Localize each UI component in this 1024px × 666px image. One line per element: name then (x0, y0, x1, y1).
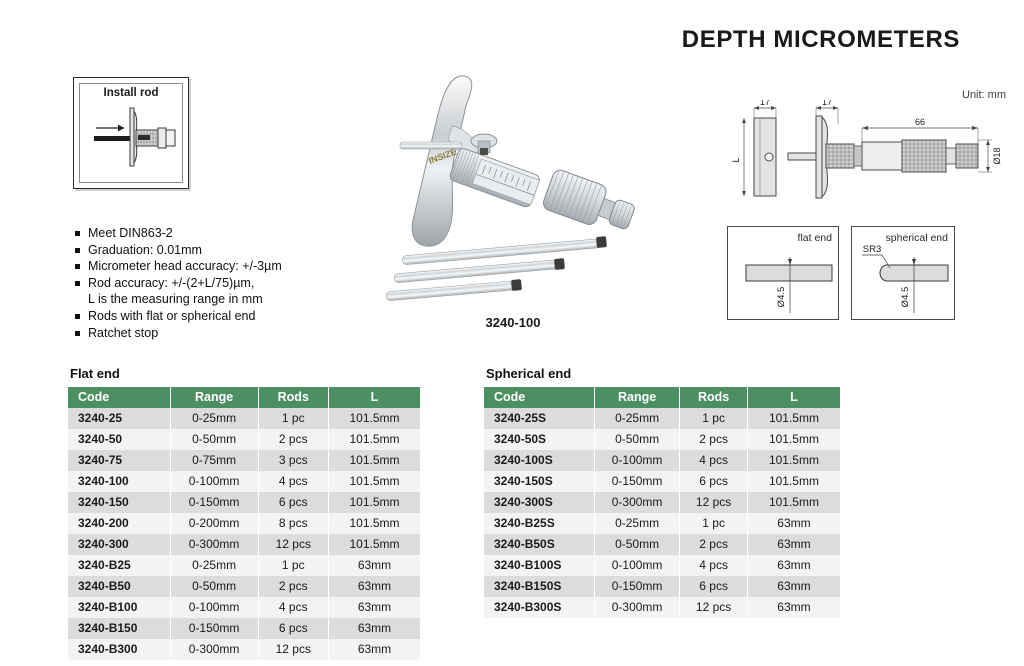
bullet-icon (75, 231, 80, 236)
specifications-list: Meet DIN863-2 Graduation: 0.01mm Microme… (75, 225, 375, 341)
spec-text: Ratchet stop (88, 325, 158, 342)
table-row: 3240-B300S 0-300mm 12 pcs 63mm (484, 597, 840, 618)
table-row: 3240-B150 0-150mm 6 pcs 63mm (68, 618, 420, 639)
cell-code: 3240-50S (484, 429, 594, 450)
table-row: 3240-B25S 0-25mm 1 pc 63mm (484, 513, 840, 534)
cell-l: 63mm (328, 639, 420, 660)
table-row: 3240-B50 0-50mm 2 pcs 63mm (68, 576, 420, 597)
column-header-code: Code (68, 387, 170, 408)
cell-code: 3240-75 (68, 450, 170, 471)
column-header-rods: Rods (258, 387, 328, 408)
column-header-l: L (328, 387, 420, 408)
cell-l: 63mm (747, 576, 840, 597)
dimension-drawing: 17 L 17 (726, 100, 1018, 212)
table-row: 3240-25 0-25mm 1 pc 101.5mm (68, 408, 420, 429)
spec-item: Graduation: 0.01mm (75, 242, 375, 259)
flat-end-table: Code Range Rods L 3240-25 0-25mm 1 pc 10… (68, 387, 420, 660)
bullet-icon (75, 314, 80, 319)
page-title: DEPTH MICROMETERS (682, 26, 960, 54)
spherical-end-table-section: Spherical end Code Range Rods L 3240-25S… (484, 366, 840, 618)
cell-l: 101.5mm (747, 408, 840, 429)
spec-text: Rods with flat or spherical end (88, 308, 255, 325)
cell-range: 0-200mm (170, 513, 258, 534)
cell-rods: 2 pcs (680, 429, 748, 450)
cell-range: 0-25mm (594, 408, 679, 429)
cell-code: 3240-300S (484, 492, 594, 513)
spherical-end-detail-box: spherical end SR3 Ø4.5 (851, 226, 955, 320)
cell-l: 101.5mm (328, 471, 420, 492)
cell-range: 0-25mm (170, 408, 258, 429)
spec-text: L is the measuring range in mm (88, 291, 263, 308)
cell-rods: 2 pcs (258, 429, 328, 450)
svg-text:Ø4.5: Ø4.5 (900, 287, 911, 308)
cell-l: 101.5mm (747, 471, 840, 492)
cell-code: 3240-B300S (484, 597, 594, 618)
table-row: 3240-25S 0-25mm 1 pc 101.5mm (484, 408, 840, 429)
column-header-rods: Rods (680, 387, 748, 408)
table-row: 3240-75 0-75mm 3 pcs 101.5mm (68, 450, 420, 471)
table-row: 3240-B100S 0-100mm 4 pcs 63mm (484, 555, 840, 576)
spec-text: Meet DIN863-2 (88, 225, 173, 242)
dim-thimble-dia: Ø18 (992, 147, 1002, 164)
cell-rods: 6 pcs (258, 492, 328, 513)
flat-end-table-body: 3240-25 0-25mm 1 pc 101.5mm 3240-50 0-50… (68, 408, 420, 660)
cell-range: 0-100mm (594, 450, 679, 471)
cell-code: 3240-300 (68, 534, 170, 555)
cell-range: 0-150mm (170, 618, 258, 639)
cell-code: 3240-25 (68, 408, 170, 429)
cell-range: 0-300mm (170, 639, 258, 660)
cell-rods: 4 pcs (680, 555, 748, 576)
spec-item: Meet DIN863-2 (75, 225, 375, 242)
cell-code: 3240-B300 (68, 639, 170, 660)
cell-l: 101.5mm (747, 492, 840, 513)
table-header-row: Code Range Rods L (484, 387, 840, 408)
cell-l: 63mm (328, 597, 420, 618)
bullet-spacer-icon (75, 297, 80, 302)
bullet-icon (75, 264, 80, 269)
bullet-icon (75, 281, 80, 286)
cell-rods: 2 pcs (258, 576, 328, 597)
table-row: 3240-100 0-100mm 4 pcs 101.5mm (68, 471, 420, 492)
cell-rods: 1 pc (258, 408, 328, 429)
dim-frame-width: 17 (822, 100, 832, 107)
spec-item: Micrometer head accuracy: +/-3µm (75, 258, 375, 275)
table-row: 3240-150S 0-150mm 6 pcs 101.5mm (484, 471, 840, 492)
cell-code: 3240-25S (484, 408, 594, 429)
cell-rods: 12 pcs (258, 534, 328, 555)
cell-l: 101.5mm (328, 513, 420, 534)
spherical-radius-label: SR3 (863, 244, 881, 255)
cell-range: 0-300mm (170, 534, 258, 555)
spec-item: Rods with flat or spherical end (75, 308, 375, 325)
cell-rods: 1 pc (680, 513, 748, 534)
dim-base-width: 17 (760, 100, 770, 107)
cell-l: 101.5mm (328, 408, 420, 429)
bullet-icon (75, 248, 80, 253)
cell-range: 0-150mm (594, 471, 679, 492)
spec-text: Graduation: 0.01mm (88, 242, 202, 259)
table-row: 3240-B150S 0-150mm 6 pcs 63mm (484, 576, 840, 597)
cell-rods: 4 pcs (680, 450, 748, 471)
flat-end-detail-box: flat end Ø4.5 (727, 226, 839, 320)
cell-rods: 3 pcs (258, 450, 328, 471)
cell-code: 3240-150 (68, 492, 170, 513)
svg-text:Ø4.5: Ø4.5 (776, 287, 787, 308)
spec-text: Micrometer head accuracy: +/-3µm (88, 258, 282, 275)
install-rod-label: Install rod (74, 87, 188, 99)
spec-item-continuation: L is the measuring range in mm (75, 291, 375, 308)
dim-barrel-length: 66 (915, 117, 925, 127)
product-caption: 3240-100 (368, 315, 658, 330)
cell-l: 101.5mm (328, 492, 420, 513)
spherical-end-diagram: SR3 Ø4.5 (852, 227, 954, 319)
cell-code: 3240-B150 (68, 618, 170, 639)
cell-rods: 12 pcs (680, 597, 748, 618)
cell-range: 0-50mm (170, 576, 258, 597)
table-row: 3240-50S 0-50mm 2 pcs 101.5mm (484, 429, 840, 450)
cell-code: 3240-B50S (484, 534, 594, 555)
spherical-end-table-title: Spherical end (486, 366, 840, 381)
cell-rods: 1 pc (258, 555, 328, 576)
table-row: 3240-B50S 0-50mm 2 pcs 63mm (484, 534, 840, 555)
cell-range: 0-300mm (594, 597, 679, 618)
column-header-l: L (747, 387, 840, 408)
table-row: 3240-300 0-300mm 12 pcs 101.5mm (68, 534, 420, 555)
cell-l: 63mm (747, 534, 840, 555)
extension-rod (386, 279, 522, 301)
cell-range: 0-100mm (170, 471, 258, 492)
cell-l: 101.5mm (328, 534, 420, 555)
cell-range: 0-25mm (594, 513, 679, 534)
table-row: 3240-B100 0-100mm 4 pcs 63mm (68, 597, 420, 618)
cell-rods: 2 pcs (680, 534, 748, 555)
table-row: 3240-B25 0-25mm 1 pc 63mm (68, 555, 420, 576)
cell-code: 3240-B100S (484, 555, 594, 576)
cell-l: 101.5mm (747, 429, 840, 450)
spherical-end-table: Code Range Rods L 3240-25S 0-25mm 1 pc 1… (484, 387, 840, 618)
cell-range: 0-75mm (170, 450, 258, 471)
column-header-code: Code (484, 387, 594, 408)
table-row: 3240-150 0-150mm 6 pcs 101.5mm (68, 492, 420, 513)
cell-rods: 4 pcs (258, 597, 328, 618)
flat-end-table-title: Flat end (70, 366, 420, 381)
cell-l: 101.5mm (328, 450, 420, 471)
table-row: 3240-100S 0-100mm 4 pcs 101.5mm (484, 450, 840, 471)
cell-code: 3240-100S (484, 450, 594, 471)
cell-range: 0-50mm (594, 429, 679, 450)
cell-range: 0-50mm (170, 429, 258, 450)
cell-range: 0-100mm (594, 555, 679, 576)
cell-l: 63mm (747, 555, 840, 576)
cell-l: 63mm (747, 597, 840, 618)
cell-code: 3240-B25 (68, 555, 170, 576)
cell-l: 101.5mm (328, 429, 420, 450)
cell-code: 3240-B100 (68, 597, 170, 618)
table-header-row: Code Range Rods L (68, 387, 420, 408)
cell-rods: 6 pcs (680, 471, 748, 492)
table-row: 3240-50 0-50mm 2 pcs 101.5mm (68, 429, 420, 450)
spec-text: Rod accuracy: +/-(2+L/75)µm, (88, 275, 254, 292)
cell-code: 3240-B25S (484, 513, 594, 534)
flat-end-table-section: Flat end Code Range Rods L 3240-25 0-25m… (68, 366, 420, 660)
cell-code: 3240-150S (484, 471, 594, 492)
cell-rods: 12 pcs (680, 492, 748, 513)
cell-l: 101.5mm (747, 450, 840, 471)
cell-range: 0-300mm (594, 492, 679, 513)
flat-end-diagram: Ø4.5 (728, 227, 838, 319)
table-row: 3240-200 0-200mm 8 pcs 101.5mm (68, 513, 420, 534)
catalog-page: DEPTH MICROMETERS (0, 0, 1024, 666)
cell-rods: 8 pcs (258, 513, 328, 534)
cell-range: 0-150mm (170, 492, 258, 513)
cell-rods: 6 pcs (258, 618, 328, 639)
cell-range: 0-100mm (170, 597, 258, 618)
cell-code: 3240-B50 (68, 576, 170, 597)
dim-side-height: L (731, 157, 741, 162)
table-row: 3240-300S 0-300mm 12 pcs 101.5mm (484, 492, 840, 513)
cell-rods: 1 pc (680, 408, 748, 429)
product-photo: INSIZE (368, 66, 658, 311)
cell-l: 63mm (747, 513, 840, 534)
cell-rods: 4 pcs (258, 471, 328, 492)
spec-item: Ratchet stop (75, 325, 375, 342)
column-header-range: Range (594, 387, 679, 408)
cell-l: 63mm (328, 555, 420, 576)
cell-rods: 12 pcs (258, 639, 328, 660)
cell-range: 0-150mm (594, 576, 679, 597)
cell-range: 0-50mm (594, 534, 679, 555)
spec-item: Rod accuracy: +/-(2+L/75)µm, (75, 275, 375, 292)
cell-code: 3240-200 (68, 513, 170, 534)
install-rod-inset: Install rod (73, 77, 189, 189)
cell-l: 63mm (328, 576, 420, 597)
bullet-icon (75, 331, 80, 336)
cell-code: 3240-100 (68, 471, 170, 492)
cell-code: 3240-50 (68, 429, 170, 450)
cell-code: 3240-B150S (484, 576, 594, 597)
spherical-end-table-body: 3240-25S 0-25mm 1 pc 101.5mm 3240-50S 0-… (484, 408, 840, 618)
cell-rods: 6 pcs (680, 576, 748, 597)
cell-l: 63mm (328, 618, 420, 639)
column-header-range: Range (170, 387, 258, 408)
cell-range: 0-25mm (170, 555, 258, 576)
table-row: 3240-B300 0-300mm 12 pcs 63mm (68, 639, 420, 660)
